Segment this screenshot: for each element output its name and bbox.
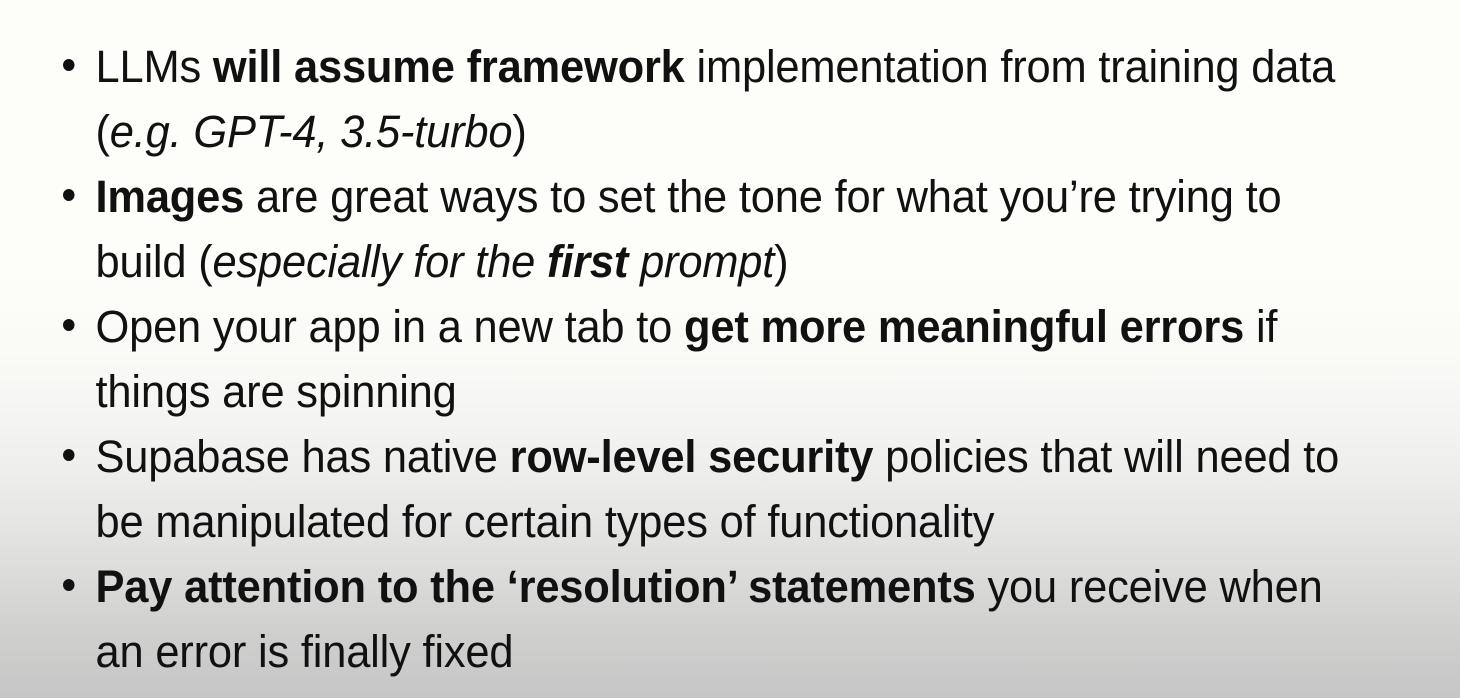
- list-item: Supabase has native row-level security p…: [0, 424, 1394, 554]
- bullet-list: LLMs will assume framework implementatio…: [0, 34, 1460, 684]
- list-item: Pay attention to the ‘resolution’ statem…: [0, 554, 1394, 684]
- list-item: Images are great ways to set the tone fo…: [0, 164, 1394, 294]
- bullet-text: Open your app in a new tab to get more m…: [96, 294, 1380, 424]
- bullet-text: LLMs will assume framework implementatio…: [96, 34, 1380, 164]
- bullet-text: Pay attention to the ‘resolution’ statem…: [96, 554, 1380, 684]
- bullet-point-icon: [63, 579, 74, 591]
- bullet-text: Supabase has native row-level security p…: [96, 424, 1380, 554]
- bullet-point-icon: [63, 319, 74, 331]
- bullet-text: Images are great ways to set the tone fo…: [96, 164, 1380, 294]
- list-item: LLMs will assume framework implementatio…: [0, 34, 1394, 164]
- bullet-point-icon: [63, 449, 74, 461]
- presentation-slide: LLMs will assume framework implementatio…: [0, 0, 1460, 698]
- bullet-point-icon: [63, 59, 74, 71]
- list-item: Open your app in a new tab to get more m…: [0, 294, 1394, 424]
- bullet-point-icon: [63, 189, 74, 201]
